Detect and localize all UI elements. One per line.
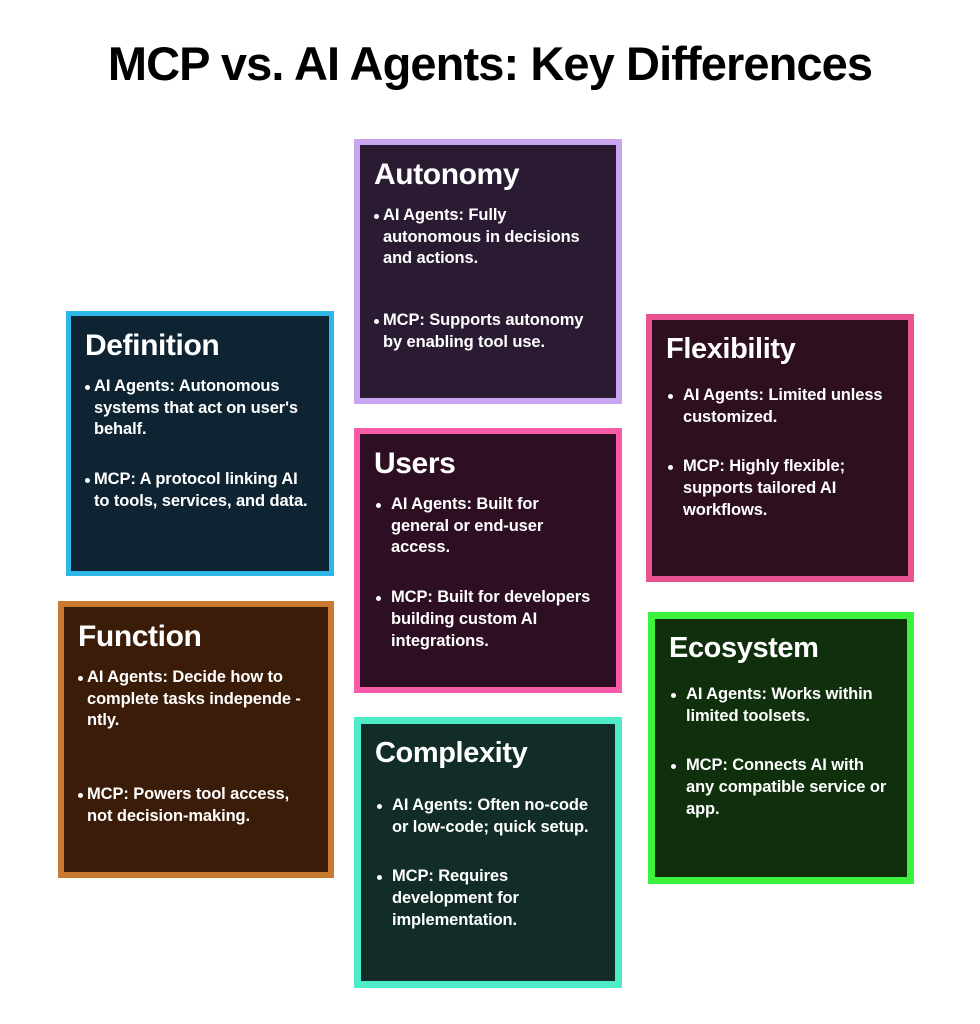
list-item: AI Agents: Works within limited toolsets… xyxy=(669,684,891,728)
bullet-text: MCP: Requires development for implementa… xyxy=(392,867,519,929)
card-complexity-bullets: AI Agents: Often no-code or low-code; qu… xyxy=(375,795,599,932)
card-users-bullets: AI Agents: Built for general or end-user… xyxy=(374,494,600,653)
bullet-text: AI Agents: Autonomous systems that act o… xyxy=(94,377,298,439)
list-item: AI Agents: Often no-code or low-code; qu… xyxy=(375,795,599,839)
dot-bullet-icon xyxy=(668,394,673,399)
list-item: MCP: Built for developers building custo… xyxy=(374,587,600,652)
dot-bullet-icon xyxy=(668,465,673,470)
list-item: MCP: Supports autonomy by enabling tool … xyxy=(374,310,600,354)
card-users-title: Users xyxy=(374,448,600,480)
card-definition-title: Definition xyxy=(85,330,313,362)
card-users: Users AI Agents: Built for general or en… xyxy=(354,428,622,693)
dot-bullet-icon xyxy=(78,676,83,681)
page-title: MCP vs. AI Agents: Key Differences xyxy=(0,36,980,91)
bullet-text: AI Agents: Often no-code or low-code; qu… xyxy=(392,796,588,836)
bullet-text: MCP: Connects AI with any compatible ser… xyxy=(686,756,886,818)
card-users-body: Users AI Agents: Built for general or en… xyxy=(360,434,616,687)
card-complexity: Complexity AI Agents: Often no-code or l… xyxy=(354,717,622,988)
bullet-text: MCP: Built for developers building custo… xyxy=(391,588,590,650)
dot-bullet-icon xyxy=(377,875,382,880)
bullet-text: AI Agents: Fully autonomous in decisions… xyxy=(383,206,580,268)
card-autonomy-bullets: AI Agents: Fully autonomous in decisions… xyxy=(374,205,600,354)
dot-bullet-icon xyxy=(85,385,90,390)
card-definition: Definition AI Agents: Autonomous systems… xyxy=(66,311,334,576)
bullet-text: AI Agents: Limited unless customized. xyxy=(683,386,883,426)
dot-bullet-icon xyxy=(78,793,83,798)
infographic-canvas: MCP vs. AI Agents: Key Differences Defin… xyxy=(0,0,980,1024)
list-item: MCP: Requires development for implementa… xyxy=(375,866,599,931)
bullet-text: AI Agents: Works within limited toolsets… xyxy=(686,685,873,725)
card-autonomy-title: Autonomy xyxy=(374,159,600,191)
dot-bullet-icon xyxy=(376,596,381,601)
card-function-title: Function xyxy=(78,621,312,653)
dot-bullet-icon xyxy=(374,214,379,219)
dot-bullet-icon xyxy=(374,319,379,324)
bullet-text: AI Agents: Decide how to complete tasks … xyxy=(87,668,301,730)
bullet-text: MCP: Highly flexible; supports tailored … xyxy=(683,457,845,519)
card-ecosystem-title: Ecosystem xyxy=(669,633,891,664)
card-complexity-body: Complexity AI Agents: Often no-code or l… xyxy=(361,724,615,981)
card-autonomy-body: Autonomy AI Agents: Fully autonomous in … xyxy=(360,145,616,398)
list-item: AI Agents: Limited unless customized. xyxy=(666,385,892,429)
card-flexibility-body: Flexibility AI Agents: Limited unless cu… xyxy=(652,320,908,576)
bullet-text: MCP: A protocol linking AI to tools, ser… xyxy=(94,470,308,510)
dot-bullet-icon xyxy=(671,693,676,698)
list-item: MCP: Powers tool access, not decision-ma… xyxy=(78,784,312,828)
dot-bullet-icon xyxy=(671,764,676,769)
bullet-text: MCP: Supports autonomy by enabling tool … xyxy=(383,311,583,351)
list-item: AI Agents: Decide how to complete tasks … xyxy=(78,667,312,732)
bullet-text: MCP: Powers tool access, not decision-ma… xyxy=(87,785,289,825)
dot-bullet-icon xyxy=(376,503,381,508)
list-item: MCP: Highly flexible; supports tailored … xyxy=(666,456,892,521)
card-function-bullets: AI Agents: Decide how to complete tasks … xyxy=(78,667,312,828)
card-ecosystem-body: Ecosystem AI Agents: Works within limite… xyxy=(655,619,907,877)
list-item: MCP: A protocol linking AI to tools, ser… xyxy=(85,469,313,513)
dot-bullet-icon xyxy=(85,478,90,483)
card-flexibility: Flexibility AI Agents: Limited unless cu… xyxy=(646,314,914,582)
card-function: Function AI Agents: Decide how to comple… xyxy=(58,601,334,878)
card-ecosystem: Ecosystem AI Agents: Works within limite… xyxy=(648,612,914,884)
card-autonomy: Autonomy AI Agents: Fully autonomous in … xyxy=(354,139,622,404)
list-item: AI Agents: Fully autonomous in decisions… xyxy=(374,205,600,270)
card-definition-bullets: AI Agents: Autonomous systems that act o… xyxy=(85,376,313,513)
dot-bullet-icon xyxy=(377,804,382,809)
bullet-text: AI Agents: Built for general or end-user… xyxy=(391,495,543,557)
card-flexibility-title: Flexibility xyxy=(666,334,892,365)
card-complexity-title: Complexity xyxy=(375,738,599,769)
card-flexibility-bullets: AI Agents: Limited unless customized. MC… xyxy=(666,385,892,522)
card-function-body: Function AI Agents: Decide how to comple… xyxy=(64,607,328,872)
list-item: AI Agents: Built for general or end-user… xyxy=(374,494,600,559)
card-ecosystem-bullets: AI Agents: Works within limited toolsets… xyxy=(669,684,891,821)
card-definition-body: Definition AI Agents: Autonomous systems… xyxy=(71,316,329,571)
list-item: MCP: Connects AI with any compatible ser… xyxy=(669,755,891,820)
list-item: AI Agents: Autonomous systems that act o… xyxy=(85,376,313,441)
